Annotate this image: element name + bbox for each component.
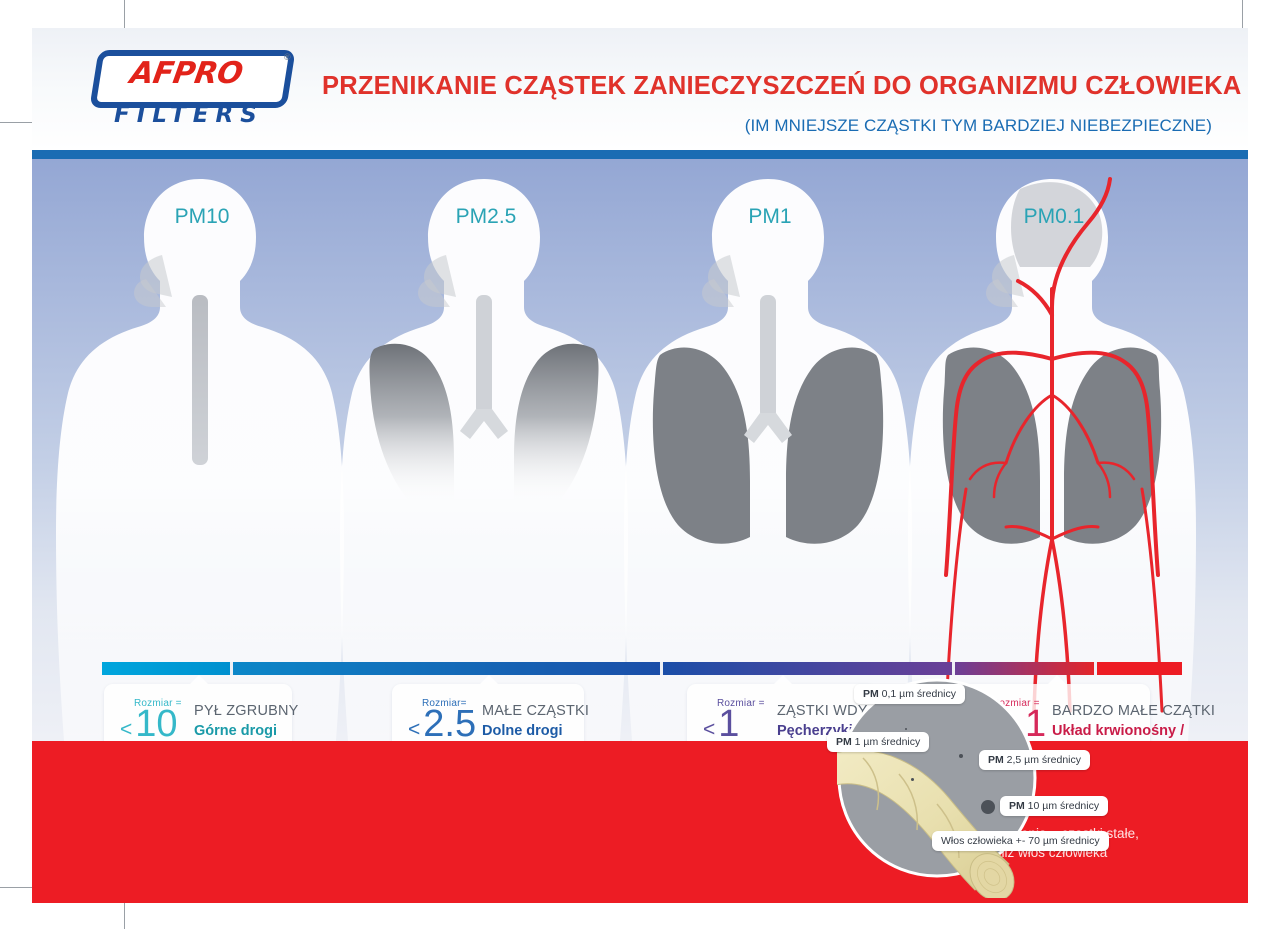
figures-stage: PM10	[32, 159, 1248, 741]
callout-human-hair: Włos człowieka +- 70 µm średnicy	[932, 831, 1109, 851]
human-silhouette-1	[50, 159, 354, 741]
callout-pm10-text: 10 µm średnicy	[1025, 800, 1099, 812]
human-silhouette-2	[334, 159, 638, 741]
callout-pm25-strong: PM	[988, 754, 1004, 766]
human-figure-pm25: PM2.5	[334, 159, 638, 741]
page-title: PRZENIKANIE CZĄSTEK ZANIECZYSZCZEŃ DO OR…	[322, 72, 1212, 101]
callout-pm10-strong: PM	[1009, 800, 1025, 812]
human-silhouette-4	[902, 159, 1206, 741]
callout-pm01: PM 0,1 µm średnicy	[854, 684, 965, 704]
card-bold1-pm01: Układ krwionośny /	[1052, 722, 1215, 741]
card-caption-pm01: BARDZO MAŁE CZĄTKI	[1052, 703, 1215, 719]
callout-pm01-strong: PM	[863, 688, 879, 700]
callout-pm1: PM 1 µm średnicy	[827, 732, 929, 752]
hair-magnifier: PM 0,1 µm średnicy PM 2,5 µm średnicy PM…	[837, 668, 1037, 898]
human-figure-pm10: PM10	[50, 159, 354, 741]
card-caption-pm25: MAŁE CZĄSTKI	[482, 703, 589, 719]
callout-pm10: PM 10 µm średnicy	[1000, 796, 1108, 816]
poster: AFPRO ® FILTERS PRZENIKANIE CZĄSTEK ZANI…	[32, 28, 1248, 903]
particle-dot-pm10	[981, 800, 995, 814]
header: AFPRO ® FILTERS PRZENIKANIE CZĄSTEK ZANI…	[32, 28, 1248, 150]
header-divider	[32, 150, 1248, 159]
particle-dot-pm01	[905, 728, 907, 730]
figure-label-pm10: PM10	[50, 205, 354, 229]
figure-label-pm01: PM0.1	[902, 205, 1206, 229]
particle-dot-pm25	[959, 754, 963, 758]
callout-pm1-strong: PM	[836, 736, 852, 748]
scale-segment-4	[1097, 662, 1182, 675]
card-notch-pm10	[190, 675, 208, 684]
callout-pm01-text: 0,1 µm średnicy	[879, 688, 956, 700]
logo: AFPRO ® FILTERS	[94, 50, 309, 135]
logo-subtitle: FILTERS	[114, 102, 264, 128]
logo-brand: AFPRO	[90, 50, 282, 96]
scale-segment-1	[233, 662, 663, 675]
card-notch-pm25	[480, 675, 498, 684]
card-notch-pm1	[774, 675, 792, 684]
particle-dot-pm1	[911, 778, 914, 781]
scale-segment-0	[102, 662, 233, 675]
callout-pm1-text: 1 µm średnicy	[852, 736, 921, 748]
card-notch-pm01	[1048, 675, 1066, 684]
figure-label-pm25: PM2.5	[334, 205, 638, 229]
card-caption-pm10: PYŁ ZGRUBNY	[194, 703, 299, 719]
human-figure-pm1: PM1	[618, 159, 922, 741]
page-subtitle: (IM MNIEJSZE CZĄSTKI TYM BARDZIEJ NIEBEZ…	[322, 116, 1212, 136]
callout-pm25: PM 2,5 µm średnicy	[979, 750, 1090, 770]
card-bold1-pm10: Górne drogi	[194, 722, 299, 741]
registered-trademark-icon: ®	[284, 52, 291, 62]
human-figure-pm01: PM0.1	[902, 159, 1206, 741]
human-silhouette-3	[618, 159, 922, 741]
card-bold1-pm25: Dolne drogi	[482, 722, 589, 741]
figure-label-pm1: PM1	[618, 205, 922, 229]
callout-pm25-text: 2,5 µm średnicy	[1004, 754, 1081, 766]
